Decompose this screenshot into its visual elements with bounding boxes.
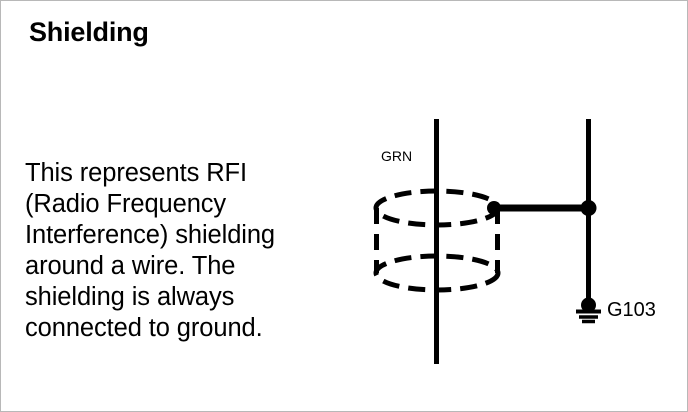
ground-label-g103: G103	[607, 299, 656, 322]
slide-canvas: Shielding This represents RFI (Radio Fre…	[0, 0, 688, 412]
shielding-schematic	[1, 1, 688, 412]
wire-label-grn: GRN	[381, 148, 412, 164]
ground-symbol	[576, 298, 601, 322]
